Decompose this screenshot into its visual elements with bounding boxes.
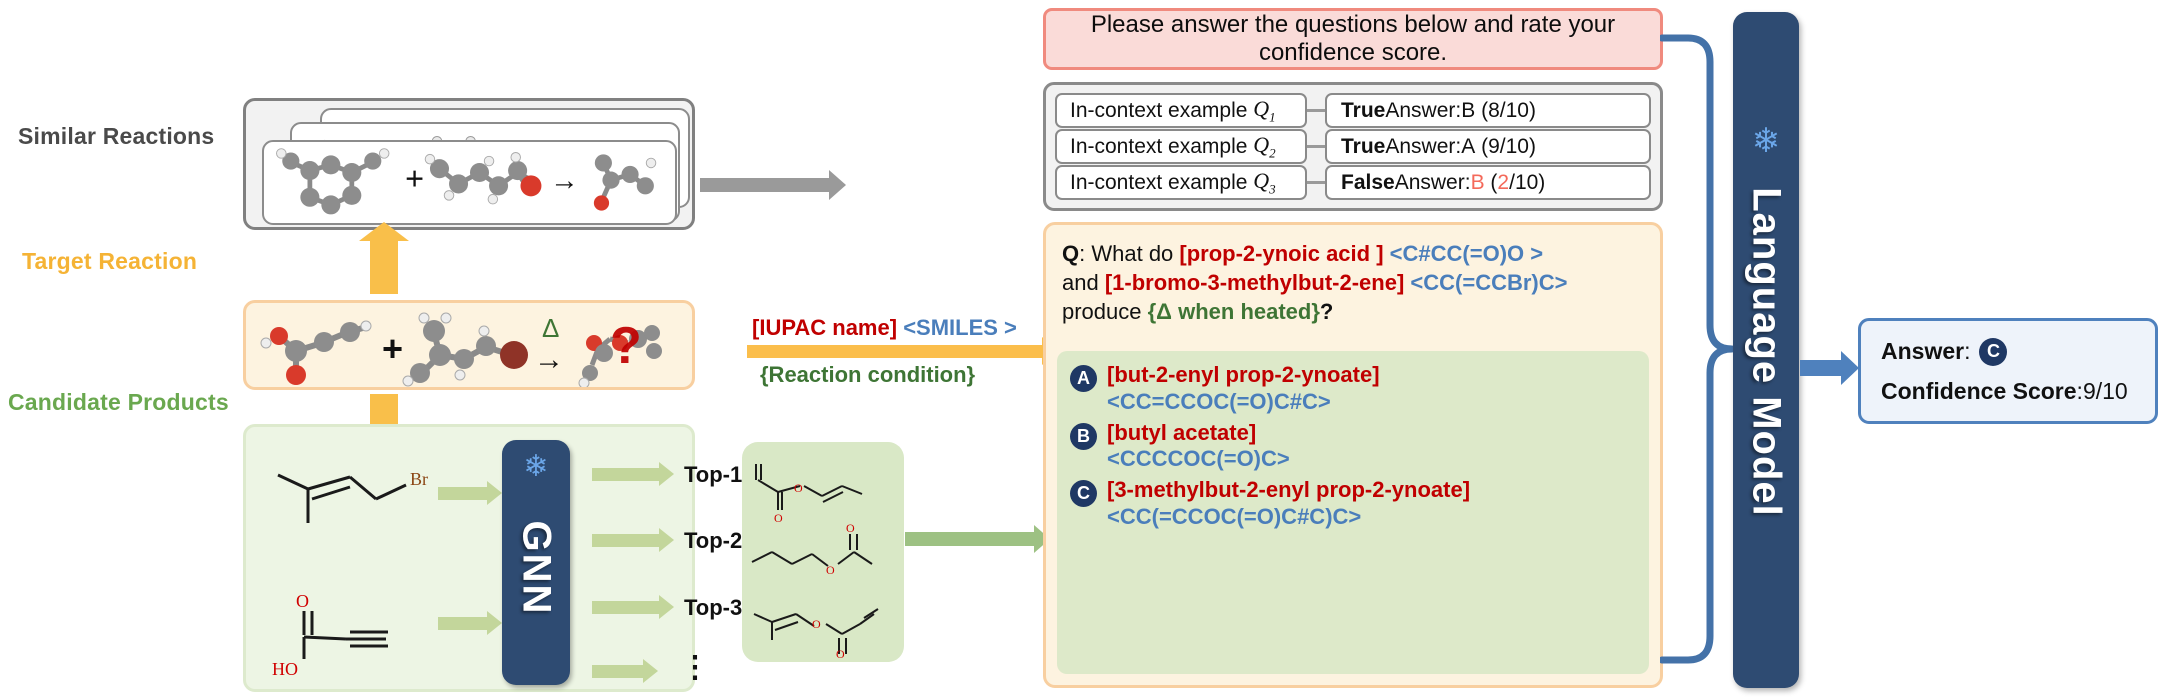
- answer-options-box: A [but-2-enyl prop-2-ynoate] <CC=CCOC(=O…: [1057, 351, 1649, 674]
- snowflake-icon: ❄: [502, 452, 570, 482]
- svg-text:O: O: [846, 521, 855, 535]
- answer-label: Answer: [1881, 338, 1964, 365]
- connector-line-2: [1307, 145, 1325, 148]
- in-context-example-row-1[interactable]: In-context example Q1 True Answer: B (8/…: [1055, 93, 1651, 128]
- question-reactant2-name: [1-bromo-3-methylbut-2-ene]: [1105, 270, 1404, 295]
- answer-line: Answer: C: [1881, 338, 2135, 366]
- arrow-reactant1-to-gnn: [438, 487, 488, 500]
- svg-text:+: +: [382, 328, 403, 369]
- label-candidate-products: Candidate Products: [8, 389, 229, 416]
- option-a[interactable]: A [but-2-enyl prop-2-ynoate] <CC=CCOC(=O…: [1070, 362, 1636, 416]
- false-score-number: 2: [1497, 171, 1509, 194]
- gnn-top2-label: Top-2: [684, 528, 742, 554]
- connector-line-3: [1307, 181, 1325, 184]
- svg-text:Δ: Δ: [542, 313, 559, 343]
- confidence-value: 9/10: [2083, 378, 2128, 405]
- question-reactant1-name: [prop-2-ynoic acid ]: [1179, 241, 1383, 266]
- arrow-target-to-question: [747, 345, 1043, 358]
- annotation-iupac-smiles: [IUPAC name] <SMILES >: [752, 315, 1017, 341]
- svg-text:→: →: [534, 343, 564, 376]
- svg-text:Br: Br: [410, 469, 428, 489]
- option-b-name: [butyl acetate]: [1107, 420, 1290, 447]
- confidence-label: Confidence Score: [1881, 378, 2077, 405]
- option-b-badge: B: [1070, 423, 1097, 450]
- question-panel: Q: What do [prop-2-ynoic acid ] <C#CC(=O…: [1043, 222, 1663, 688]
- annotation-reaction-condition: {Reaction condition}: [760, 362, 975, 388]
- svg-text:O: O: [826, 563, 835, 577]
- option-c[interactable]: C [3-methylbut-2-enyl prop-2-ynoate] <CC…: [1070, 477, 1636, 531]
- svg-text:HO: HO: [272, 659, 298, 679]
- in-context-answer-1[interactable]: True Answer: B (8/10): [1325, 93, 1651, 128]
- arrow-products-to-options: [905, 532, 1035, 546]
- target-reaction-diagram: + Δ →: [246, 303, 692, 387]
- product-skeletal-structures: O O O O O O: [742, 442, 904, 662]
- label-target-reaction: Target Reaction: [22, 248, 197, 275]
- candidate-products-structures-box: O O O O O O: [742, 442, 904, 662]
- option-a-name: [but-2-enyl prop-2-ynoate]: [1107, 362, 1380, 389]
- in-context-question-2[interactable]: In-context example Q2: [1055, 129, 1307, 164]
- target-reaction-panel: + Δ →: [243, 300, 695, 390]
- question-reactant2-smiles: <CC(=CCBr)C>: [1410, 270, 1567, 295]
- answer-value-badge: C: [1979, 338, 2007, 366]
- false-score: (2/10): [1490, 171, 1545, 195]
- in-context-question-1[interactable]: In-context example Q1: [1055, 93, 1307, 128]
- final-answer-box: Answer: C Confidence Score: 9/10: [1858, 318, 2158, 424]
- gnn-model-block[interactable]: ❄ GNN: [502, 440, 570, 685]
- arrow-reactant2-to-gnn: [438, 617, 488, 630]
- connector-line-1: [1307, 109, 1325, 112]
- arrow-model-to-answer: [1800, 360, 1842, 376]
- in-context-answer-2[interactable]: True Answer: A (9/10): [1325, 129, 1651, 164]
- svg-text:O: O: [836, 647, 845, 661]
- in-context-examples-panel: In-context example Q1 True Answer: B (8/…: [1043, 82, 1663, 211]
- in-context-example-row-2[interactable]: In-context example Q2 True Answer: A (9/…: [1055, 129, 1651, 164]
- reactant-skeletal-structures: Br O HO: [246, 427, 692, 689]
- in-context-answer-3[interactable]: False Answer: B (2/10): [1325, 165, 1651, 200]
- option-c-name: [3-methylbut-2-enyl prop-2-ynoate]: [1107, 477, 1470, 504]
- gnn-label: GNN: [514, 521, 559, 616]
- question-condition: {Δ when heated}: [1148, 299, 1320, 324]
- arrow-similar-to-examples: [700, 178, 830, 192]
- prompt-banner: Please answer the questions below and ra…: [1043, 8, 1663, 70]
- similar-reaction-card-1[interactable]: + →: [262, 140, 677, 225]
- annotation-smiles-text: <SMILES >: [903, 315, 1017, 340]
- question-text: Q: What do [prop-2-ynoic acid ] <C#CC(=O…: [1062, 239, 1644, 326]
- option-b-smiles: <CCCCOC(=O)C>: [1107, 446, 1290, 473]
- option-a-badge: A: [1070, 365, 1097, 392]
- arrow-gnn-top1: [592, 468, 660, 481]
- language-model-label: Language Model: [1744, 187, 1789, 517]
- option-a-smiles: <CC=CCOC(=O)C#C>: [1107, 389, 1380, 416]
- arrow-gnn-top2: [592, 534, 660, 547]
- in-context-example-row-3[interactable]: In-context example Q3 False Answer: B (2…: [1055, 165, 1651, 200]
- molecule-diagram-1: + →: [264, 142, 675, 223]
- prompt-text: Please answer the questions below and ra…: [1064, 11, 1642, 66]
- question-reactant1-smiles: <C#CC(=O)O >: [1390, 241, 1543, 266]
- svg-text:?: ?: [610, 317, 642, 375]
- arrow-target-to-similar: [370, 240, 398, 294]
- gnn-top3-label: Top-3: [684, 595, 742, 621]
- label-similar-reactions: Similar Reactions: [18, 123, 214, 150]
- in-context-question-3[interactable]: In-context example Q3: [1055, 165, 1307, 200]
- svg-text:O: O: [296, 591, 309, 611]
- svg-text:→: →: [550, 165, 579, 197]
- svg-text:O: O: [774, 511, 783, 525]
- annotation-iupac-text: [IUPAC name]: [752, 315, 897, 340]
- language-model-block[interactable]: ❄ Language Model: [1733, 12, 1799, 688]
- option-c-smiles: <CC(=CCOC(=O)C#C)C>: [1107, 504, 1470, 531]
- svg-text:O: O: [794, 481, 803, 495]
- svg-text:O: O: [812, 617, 821, 631]
- arrow-gnn-top3: [592, 601, 660, 614]
- svg-text:+: +: [405, 161, 424, 197]
- gnn-top1-label: Top-1: [684, 462, 742, 488]
- gnn-ellipsis: ⋮: [680, 650, 710, 685]
- candidate-products-panel: Br O HO: [243, 424, 695, 692]
- option-b[interactable]: B [butyl acetate] <CCCCOC(=O)C>: [1070, 420, 1636, 474]
- snowflake-icon: ❄: [1733, 124, 1799, 158]
- option-c-badge: C: [1070, 480, 1097, 507]
- confidence-line: Confidence Score: 9/10: [1881, 378, 2135, 405]
- blue-bracket-connector: [1660, 0, 1738, 698]
- arrow-gnn-more: [592, 665, 644, 678]
